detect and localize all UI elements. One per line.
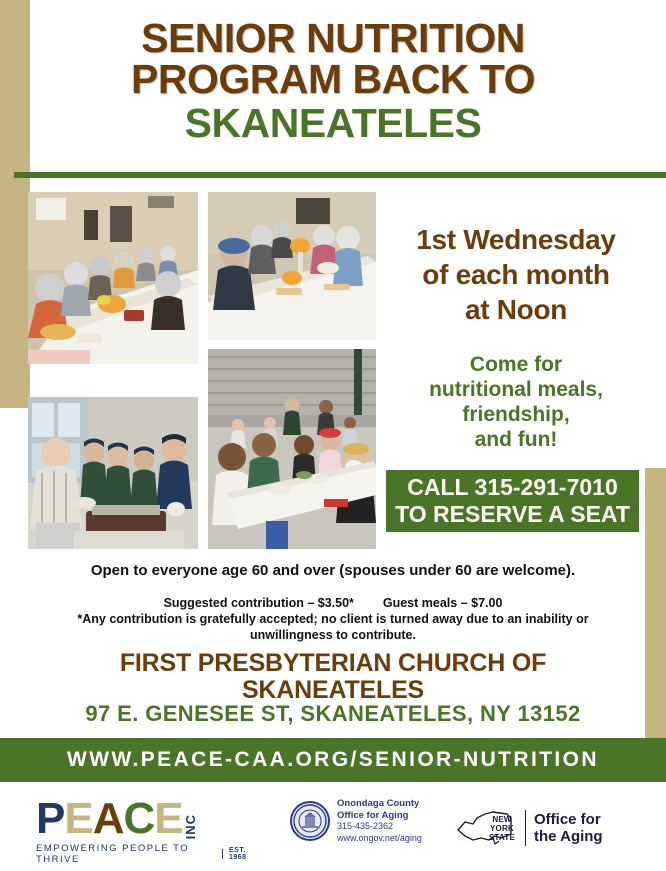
nys-line-state: STATE: [489, 833, 515, 842]
decorative-green-rule: [14, 172, 666, 178]
peace-established: EST. 1968: [229, 847, 262, 861]
county-line-1: Onondaga County: [337, 798, 422, 810]
peace-letter-c: C: [124, 798, 155, 840]
eligibility-statement: Open to everyone age 60 and over (spouse…: [0, 562, 666, 580]
invite-line-4: and fun!: [378, 427, 654, 452]
peace-letter-p: P: [36, 798, 64, 840]
invite-line-3: friendship,: [378, 402, 654, 427]
flyer-page: SENIOR NUTRITION PROGRAM BACK TO SKANEAT…: [0, 0, 666, 871]
nys-state-words: NEW YORK STATE: [489, 815, 515, 842]
website-url: WWW.PEACE-CAA.ORG/SENIOR-NUTRITION: [67, 748, 599, 772]
contribution-block: Suggested contribution – $3.50* Guest me…: [0, 595, 666, 643]
county-phone: 315-435-2362: [337, 821, 422, 833]
peace-letter-e: E: [64, 798, 92, 840]
page-title: SENIOR NUTRITION PROGRAM BACK TO SKANEAT…: [0, 18, 666, 146]
peace-inc-logo: P E A C E INC EMPOWERING PEOPLE TO THRIV…: [36, 798, 262, 860]
peace-tagline: EMPOWERING PEOPLE TO THRIVE: [36, 843, 216, 865]
county-text-block: Onondaga County Office for Aging 315-435…: [337, 798, 422, 858]
nys-office-line-2: the Aging: [534, 828, 603, 845]
venue-name-line-1: FIRST PRESBYTERIAN CHURCH OF: [0, 650, 666, 677]
onondaga-county-logo: Onondaga County Office for Aging 315-435…: [290, 798, 430, 858]
venue-name: FIRST PRESBYTERIAN CHURCH OF SKANEATELES: [0, 650, 666, 704]
peace-letter-a: A: [93, 798, 124, 840]
nys-line-new: NEW: [489, 815, 515, 824]
contribution-disclaimer-line-2: unwillingness to contribute.: [0, 627, 666, 643]
guest-meals-price: Guest meals – $7.00: [383, 596, 503, 610]
new-york-state-map-icon: NEW YORK STATE: [455, 808, 517, 848]
invite-line-1: Come for: [378, 352, 654, 377]
venue-address: 97 E. GENESEE ST, SKANEATELES, NY 13152: [0, 702, 666, 726]
invite-block: Come for nutritional meals, friendship, …: [378, 352, 654, 452]
county-website[interactable]: www.ongov.net/aging: [337, 833, 422, 845]
schedule-block: 1st Wednesday of each month at Noon: [378, 222, 654, 327]
nys-line-york: YORK: [489, 824, 515, 833]
peace-tagline-row: EMPOWERING PEOPLE TO THRIVE EST. 1968: [36, 843, 262, 865]
photo-seniors-dining-second-table: [208, 192, 376, 340]
footer-logos: P E A C E INC EMPOWERING PEOPLE TO THRIV…: [0, 790, 666, 871]
nys-office-text: Office for the Aging: [534, 811, 603, 845]
photo-seniors-dining-in-pavilion: [208, 349, 376, 549]
call-reserve-line: TO RESERVE A SEAT: [395, 501, 630, 528]
nys-office-line-1: Office for: [534, 811, 603, 828]
contribution-prices-row: Suggested contribution – $3.50* Guest me…: [0, 595, 666, 611]
contribution-disclaimer-line-1: *Any contribution is gratefully accepted…: [0, 611, 666, 627]
photo-volunteers-serving-food: [28, 397, 198, 549]
peace-letters-row: P E A C E INC: [36, 798, 262, 840]
schedule-line-3: at Noon: [378, 292, 654, 327]
venue-name-line-2: SKANEATELES: [0, 677, 666, 704]
schedule-line-1: 1st Wednesday: [378, 222, 654, 257]
county-line-2: Office for Aging: [337, 810, 422, 822]
nys-logo-divider: [525, 810, 526, 846]
call-to-action-box[interactable]: CALL 315-291-7010 TO RESERVE A SEAT: [386, 470, 639, 532]
photo-seniors-dining-long-table: [28, 192, 198, 364]
schedule-line-2: of each month: [378, 257, 654, 292]
nys-office-for-aging-logo: NEW YORK STATE Office for the Aging: [455, 800, 630, 855]
title-line-2: PROGRAM BACK TO: [0, 59, 666, 100]
photo-collage: [28, 192, 376, 552]
peace-inc-suffix: INC: [185, 814, 197, 839]
suggested-contribution: Suggested contribution – $3.50*: [164, 596, 354, 610]
website-banner[interactable]: WWW.PEACE-CAA.ORG/SENIOR-NUTRITION: [0, 738, 666, 782]
invite-line-2: nutritional meals,: [378, 377, 654, 402]
county-seal-icon: [290, 801, 330, 841]
call-phone-line: CALL 315-291-7010: [407, 474, 618, 501]
title-line-1: SENIOR NUTRITION: [0, 18, 666, 59]
peace-tagline-divider: [222, 849, 223, 859]
title-line-3: SKANEATELES: [0, 100, 666, 146]
peace-letter-e2: E: [154, 798, 182, 840]
